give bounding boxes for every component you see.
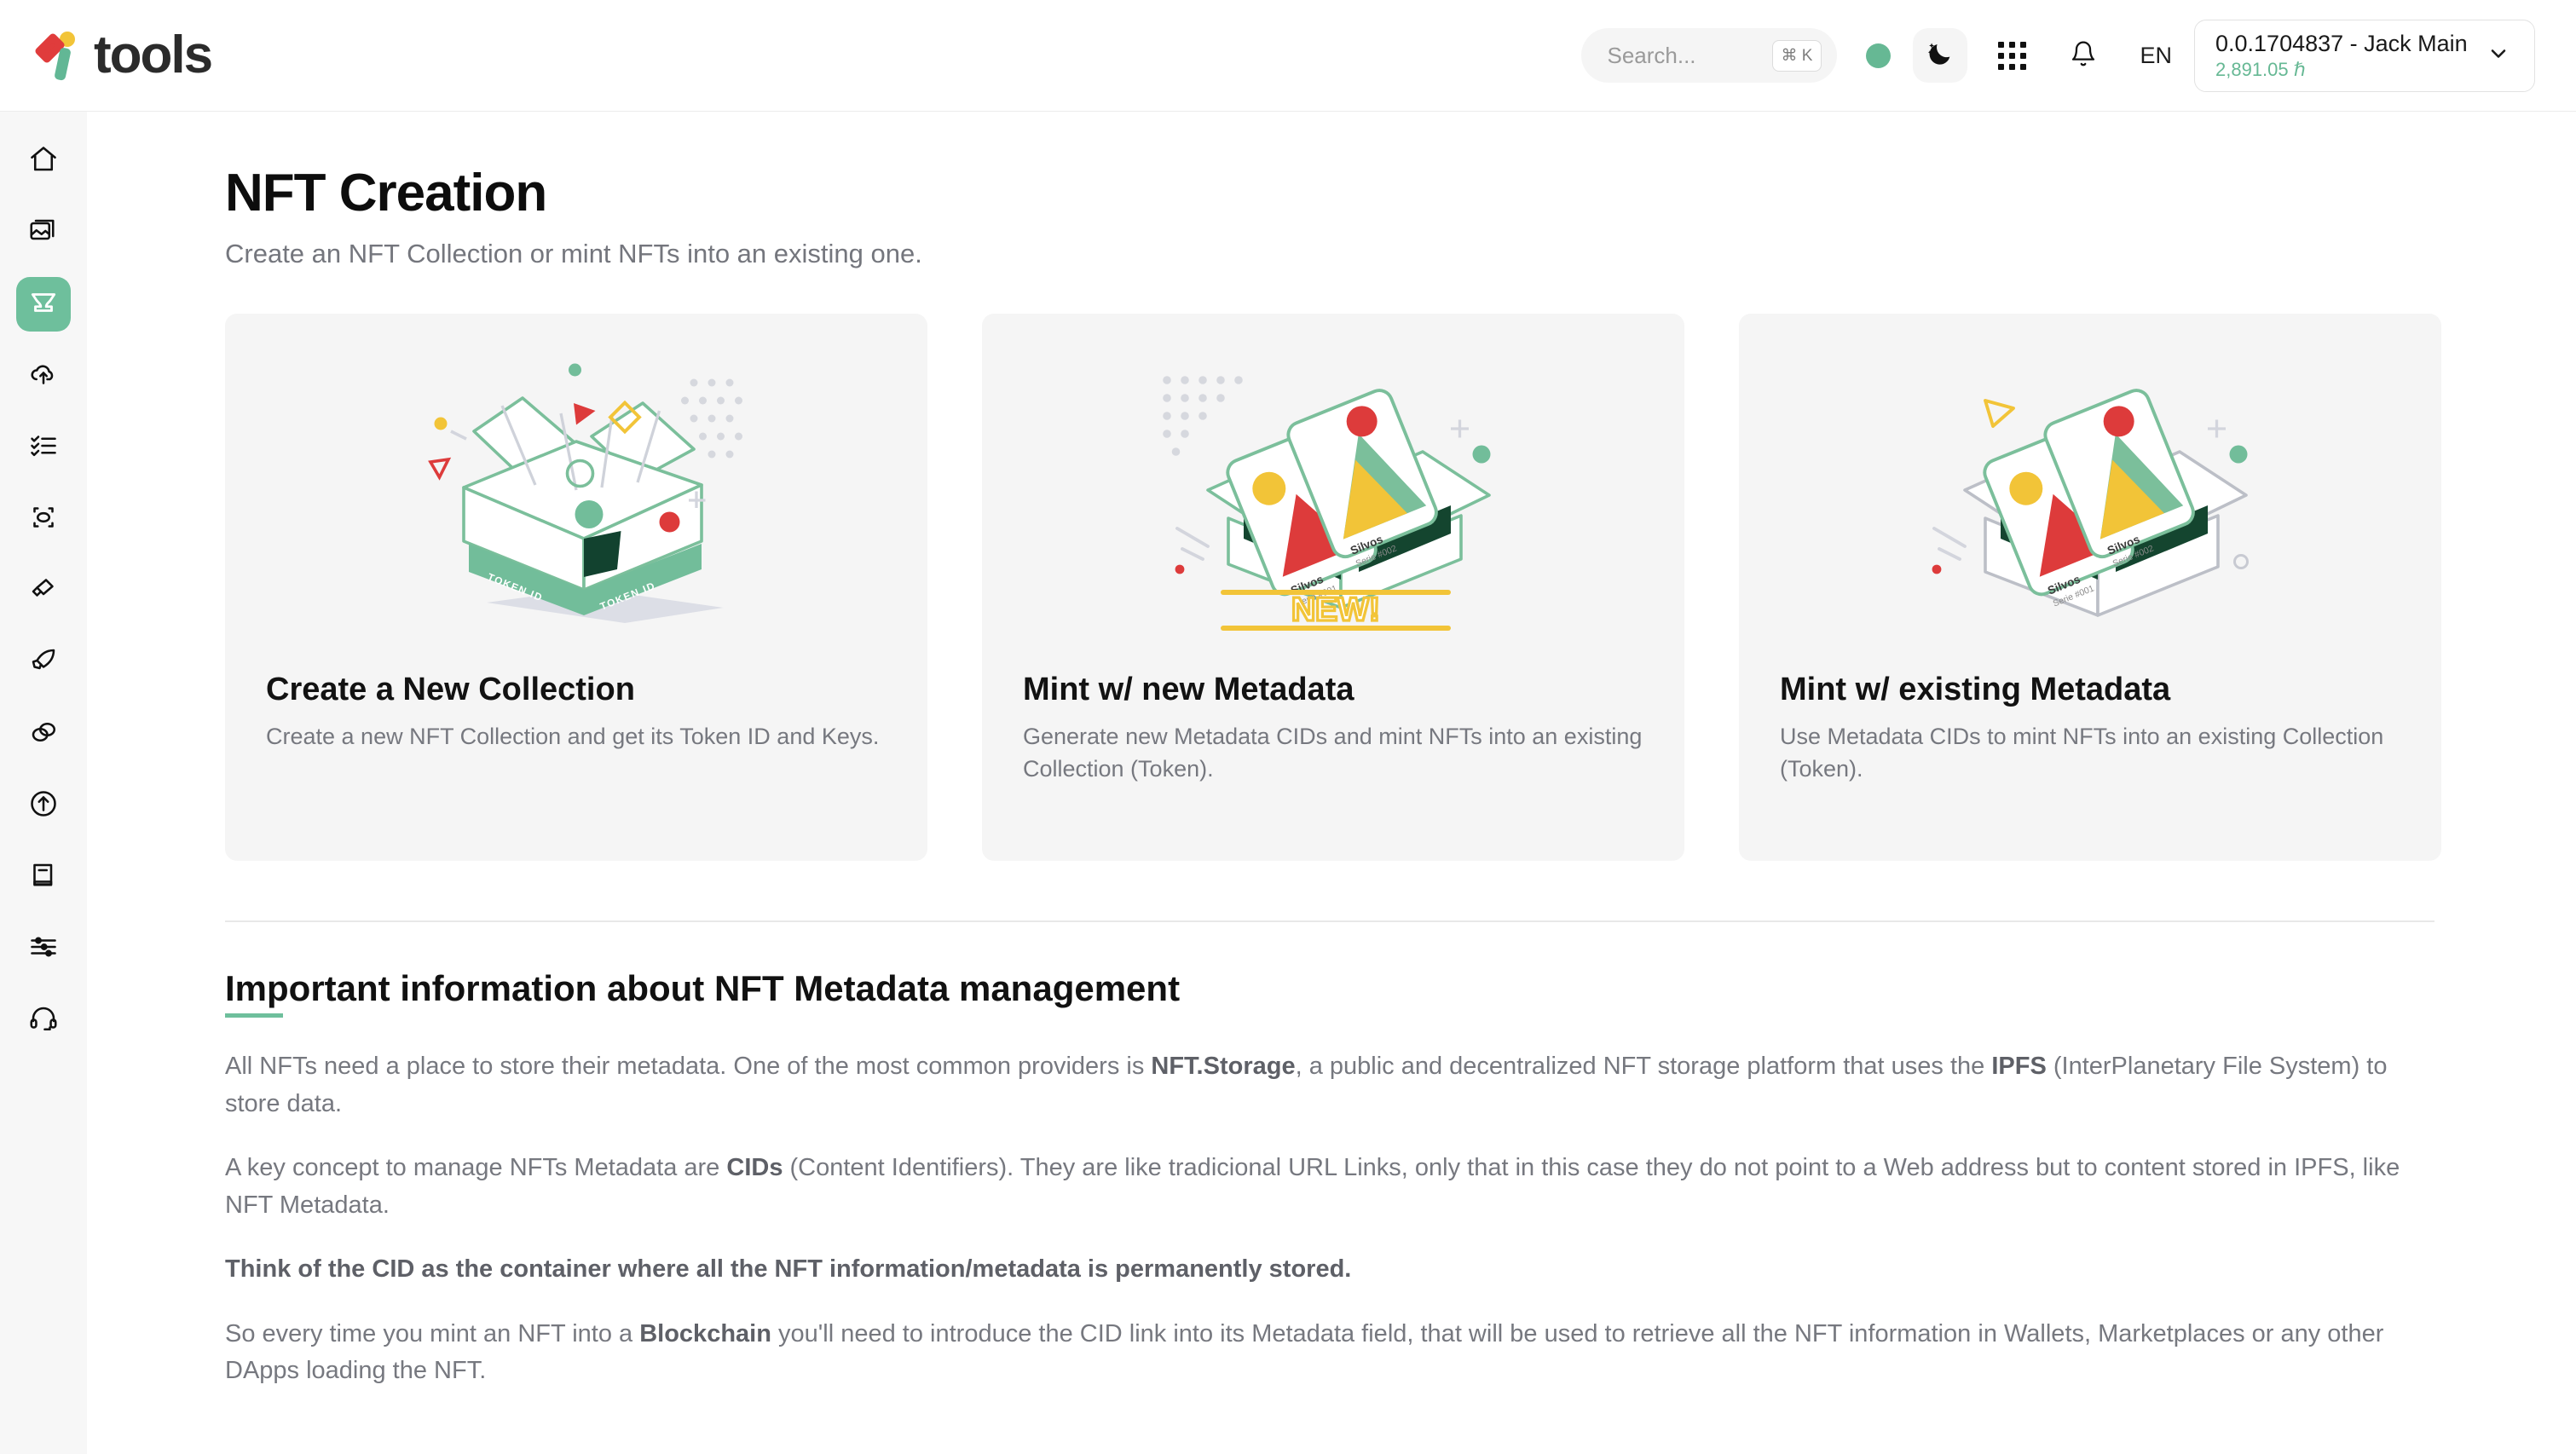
linked-circles-icon [28, 717, 59, 752]
sidebar-nav [0, 112, 87, 1454]
info-paragraph-4: So every time you mint an NFT into a Blo… [225, 1316, 2441, 1390]
sidebar-item-gallery[interactable] [16, 205, 71, 260]
section-divider [225, 920, 2434, 922]
search-placeholder: Search... [1607, 43, 1771, 69]
brand-logo[interactable] [0, 29, 85, 82]
card-mint-existing-metadata[interactable]: Silvos Serie #001 Silvos Serie #002 [1739, 314, 2441, 861]
app-header: tools Search... ⌘ K [0, 0, 2576, 112]
images-icon [28, 216, 59, 251]
card-description: Create a new NFT Collection and get its … [266, 720, 887, 753]
sidebar-item-network[interactable] [16, 492, 71, 546]
card-title: Mint w/ existing Metadata [1780, 672, 2400, 708]
atom-node-icon [28, 502, 59, 537]
card-mint-new-metadata[interactable]: Silvos Serie #001 Silvos Serie #002 [982, 314, 1684, 861]
apps-button[interactable] [1984, 28, 2039, 83]
sidebar-item-paint[interactable] [16, 563, 71, 618]
open-box-token-id-illustration: TOKEN ID TOKEN ID [266, 314, 887, 672]
search-input[interactable]: Search... ⌘ K [1581, 28, 1837, 83]
moon-icon [1926, 39, 1955, 72]
card-title: Create a New Collection [266, 672, 887, 708]
sidebar-item-docs[interactable] [16, 850, 71, 904]
info-paragraph-1: All NFTs need a place to store their met… [225, 1048, 2441, 1122]
book-icon [28, 860, 59, 895]
p4-bold-blockchain: Blockchain [639, 1320, 771, 1347]
p2-bold-cids: CIDs [726, 1154, 783, 1181]
new-badge-text: NEW! [1291, 591, 1380, 628]
account-balance: 2,891.05 ℏ [2215, 59, 2468, 81]
sidebar-item-nft-creation[interactable] [16, 277, 71, 332]
sliders-icon [28, 932, 59, 966]
dark-mode-toggle[interactable] [1913, 28, 1967, 83]
brand-name[interactable]: tools [94, 29, 211, 82]
checklist-icon [28, 430, 59, 465]
gray-box-nft-cards-illustration: Silvos Serie #001 Silvos Serie #002 [1780, 314, 2400, 672]
language-selector[interactable]: EN [2140, 43, 2172, 69]
search-shortcut-badge: ⌘ K [1772, 40, 1822, 72]
sidebar-item-link[interactable] [16, 707, 71, 761]
info-paragraph-2: A key concept to manage NFTs Metadata ar… [225, 1150, 2441, 1224]
p1-text-a: All NFTs need a place to store their met… [225, 1053, 1151, 1080]
hammer-logo-icon [34, 29, 82, 82]
main-content: NFT Creation Create an NFT Collection or… [87, 112, 2576, 1454]
p1-bold-ipfs: IPFS [1991, 1053, 2046, 1080]
grid-apps-icon [1998, 42, 2026, 70]
header-actions: Search... ⌘ K [1581, 20, 2576, 92]
headset-icon [28, 1003, 59, 1038]
sidebar-item-upload[interactable] [16, 349, 71, 403]
home-icon [28, 144, 59, 179]
card-title: Mint w/ new Metadata [1023, 672, 1643, 708]
box-nft-cards-new-illustration: Silvos Serie #001 Silvos Serie #002 [1023, 314, 1643, 672]
card-create-new-collection[interactable]: TOKEN ID TOKEN ID Create a New Collectio… [225, 314, 927, 861]
cloud-upload-icon [28, 359, 59, 394]
sidebar-item-support[interactable] [16, 993, 71, 1047]
anvil-icon [27, 286, 60, 323]
p4-text-a: So every time you mint an NFT into a [225, 1320, 639, 1347]
notifications-button[interactable] [2056, 28, 2111, 83]
page-subtitle: Create an NFT Collection or mint NFTs in… [225, 239, 2491, 269]
paintbrush-icon [28, 574, 59, 609]
rocket-icon [28, 645, 59, 680]
bell-icon [2070, 40, 2097, 72]
status-dot-icon[interactable] [1866, 43, 1891, 68]
sidebar-item-checklist[interactable] [16, 420, 71, 475]
page-title: NFT Creation [225, 163, 2491, 223]
sidebar-item-send-up[interactable] [16, 778, 71, 833]
p2-text-a: A key concept to manage NFTs Metadata ar… [225, 1154, 726, 1181]
card-description: Generate new Metadata CIDs and mint NFTs… [1023, 720, 1643, 786]
info-section-heading: Important information about NFT Metadata… [225, 968, 1180, 1018]
sidebar-item-settings[interactable] [16, 921, 71, 976]
account-selector[interactable]: 0.0.1704837 - Jack Main 2,891.05 ℏ [2194, 20, 2535, 92]
account-id-name: 0.0.1704837 - Jack Main [2215, 31, 2468, 57]
card-description: Use Metadata CIDs to mint NFTs into an e… [1780, 720, 2400, 786]
p1-bold-nft-storage: NFT.Storage [1151, 1053, 1295, 1080]
sidebar-item-home[interactable] [16, 134, 71, 188]
action-cards: TOKEN ID TOKEN ID Create a New Collectio… [225, 314, 2491, 861]
chevron-down-icon[interactable] [2486, 42, 2510, 70]
sidebar-item-launch[interactable] [16, 635, 71, 689]
info-paragraph-3: Think of the CID as the container where … [225, 1251, 2441, 1289]
p1-text-c: , a public and decentralized NFT storage… [1296, 1053, 1992, 1080]
account-info: 0.0.1704837 - Jack Main 2,891.05 ℏ [2215, 31, 2468, 81]
arrow-up-circle-icon [28, 788, 59, 823]
